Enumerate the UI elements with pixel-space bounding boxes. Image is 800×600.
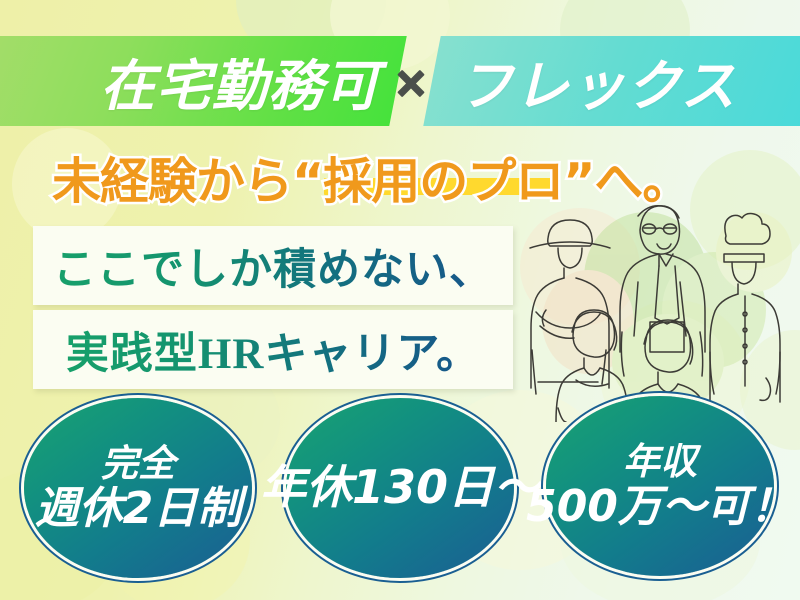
band-left-label: 在宅勤務可 [100,41,380,121]
statement-text-2: 実践型HRキャリア。 [66,319,480,381]
statement-box-1: ここでしか積めない、 [33,226,513,305]
headline: 未経験から“採用のプロ”へ。 [52,142,752,204]
badge-annual-holidays: 年休130日〜 [286,398,514,578]
badge-full-two-day-weekend: 完全 週休2日制 [24,398,252,578]
headline-text: 未経験から“採用のプロ”へ。 [52,142,690,213]
band-right-label: フレックス [458,41,736,121]
badge-2-line-1: 年休130日〜 [260,462,540,514]
badge-1-line-1: 完全 [101,443,175,484]
five-workers-illustration [518,182,800,422]
job-ad-banner: 在宅勤務可 フレックス 未経験から“採用のプロ”へ。 ここでしか積めない、 実践… [0,0,800,600]
badge-annual-salary: 年収 500万〜可！ [546,396,774,576]
badge-3-line-2: 500万〜可！ [526,482,794,531]
cross-separator-icon [393,66,427,100]
band-flex-time: フレックス [423,36,800,126]
badge-3-line-1: 年収 [623,441,697,482]
statement-box-2: 実践型HRキャリア。 [33,310,513,389]
statement-text-1: ここでしか積めない、 [53,235,493,297]
badge-1-line-2: 週休2日制 [35,484,242,533]
band-remote-work: 在宅勤務可 [0,36,407,126]
